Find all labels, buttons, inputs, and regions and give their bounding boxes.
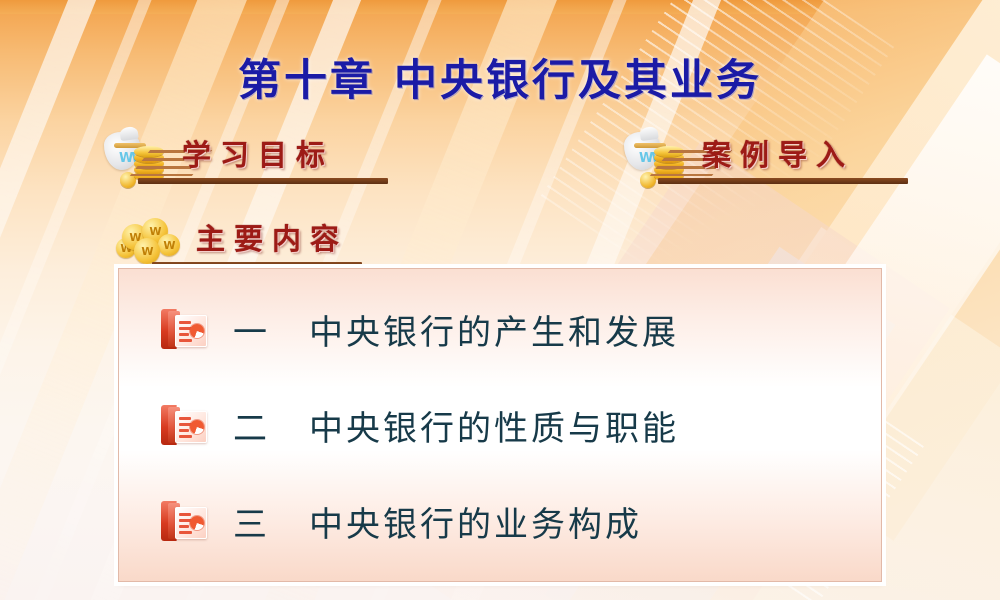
icon-text-line <box>179 435 192 438</box>
section-label-objectives: 学习目标 <box>182 132 334 174</box>
icon-text-line <box>179 333 189 336</box>
coin: W <box>134 238 160 264</box>
section-label-content: 主要内容 <box>196 216 348 258</box>
icon-page <box>175 315 207 347</box>
bag-neck <box>639 126 659 141</box>
section-label-case: 案例导入 <box>702 132 854 174</box>
icon-pie-chart <box>190 420 204 434</box>
icon-text-line <box>179 417 191 420</box>
icon-text-line <box>179 429 189 432</box>
icon-text-line <box>179 339 192 342</box>
content-item-1[interactable]: 一 中央银行的产生和发展 <box>119 291 881 367</box>
powerpoint-icon <box>159 403 207 447</box>
header-underline-bar <box>658 178 908 184</box>
icon-text-line <box>179 531 192 534</box>
icon-pie-chart <box>190 324 204 338</box>
header-underline-bar <box>138 178 388 184</box>
slide-title: 第十章 中央银行及其业务 <box>0 46 1000 108</box>
presentation-slide: 第十章 中央银行及其业务 WW 学习目标 <box>0 0 1000 600</box>
powerpoint-icon <box>159 307 207 351</box>
bag-neck <box>119 126 139 141</box>
icon-pie-chart <box>190 516 204 530</box>
content-item-3[interactable]: 三 中央银行的业务构成 <box>119 483 881 559</box>
item-number: 三 <box>233 497 269 546</box>
item-text: 中央银行的性质与职能 <box>309 401 679 450</box>
content-item-2[interactable]: 二 中央银行的性质与职能 <box>119 387 881 463</box>
item-number: 二 <box>233 401 269 450</box>
item-number: 一 <box>233 305 269 354</box>
gold-coins-icon: W W W W W <box>116 212 188 266</box>
icon-text-line <box>179 525 189 528</box>
item-text: 中央银行的业务构成 <box>309 497 642 546</box>
item-text: 中央银行的产生和发展 <box>309 305 679 354</box>
coin: W <box>158 234 180 256</box>
powerpoint-icon <box>159 499 207 543</box>
content-panel: 一 中央银行的产生和发展 二 中央银行的性质与职能 <box>118 268 882 582</box>
icon-page <box>175 507 207 539</box>
icon-text-line <box>179 321 191 324</box>
icon-text-line <box>179 513 191 516</box>
icon-page <box>175 411 207 443</box>
